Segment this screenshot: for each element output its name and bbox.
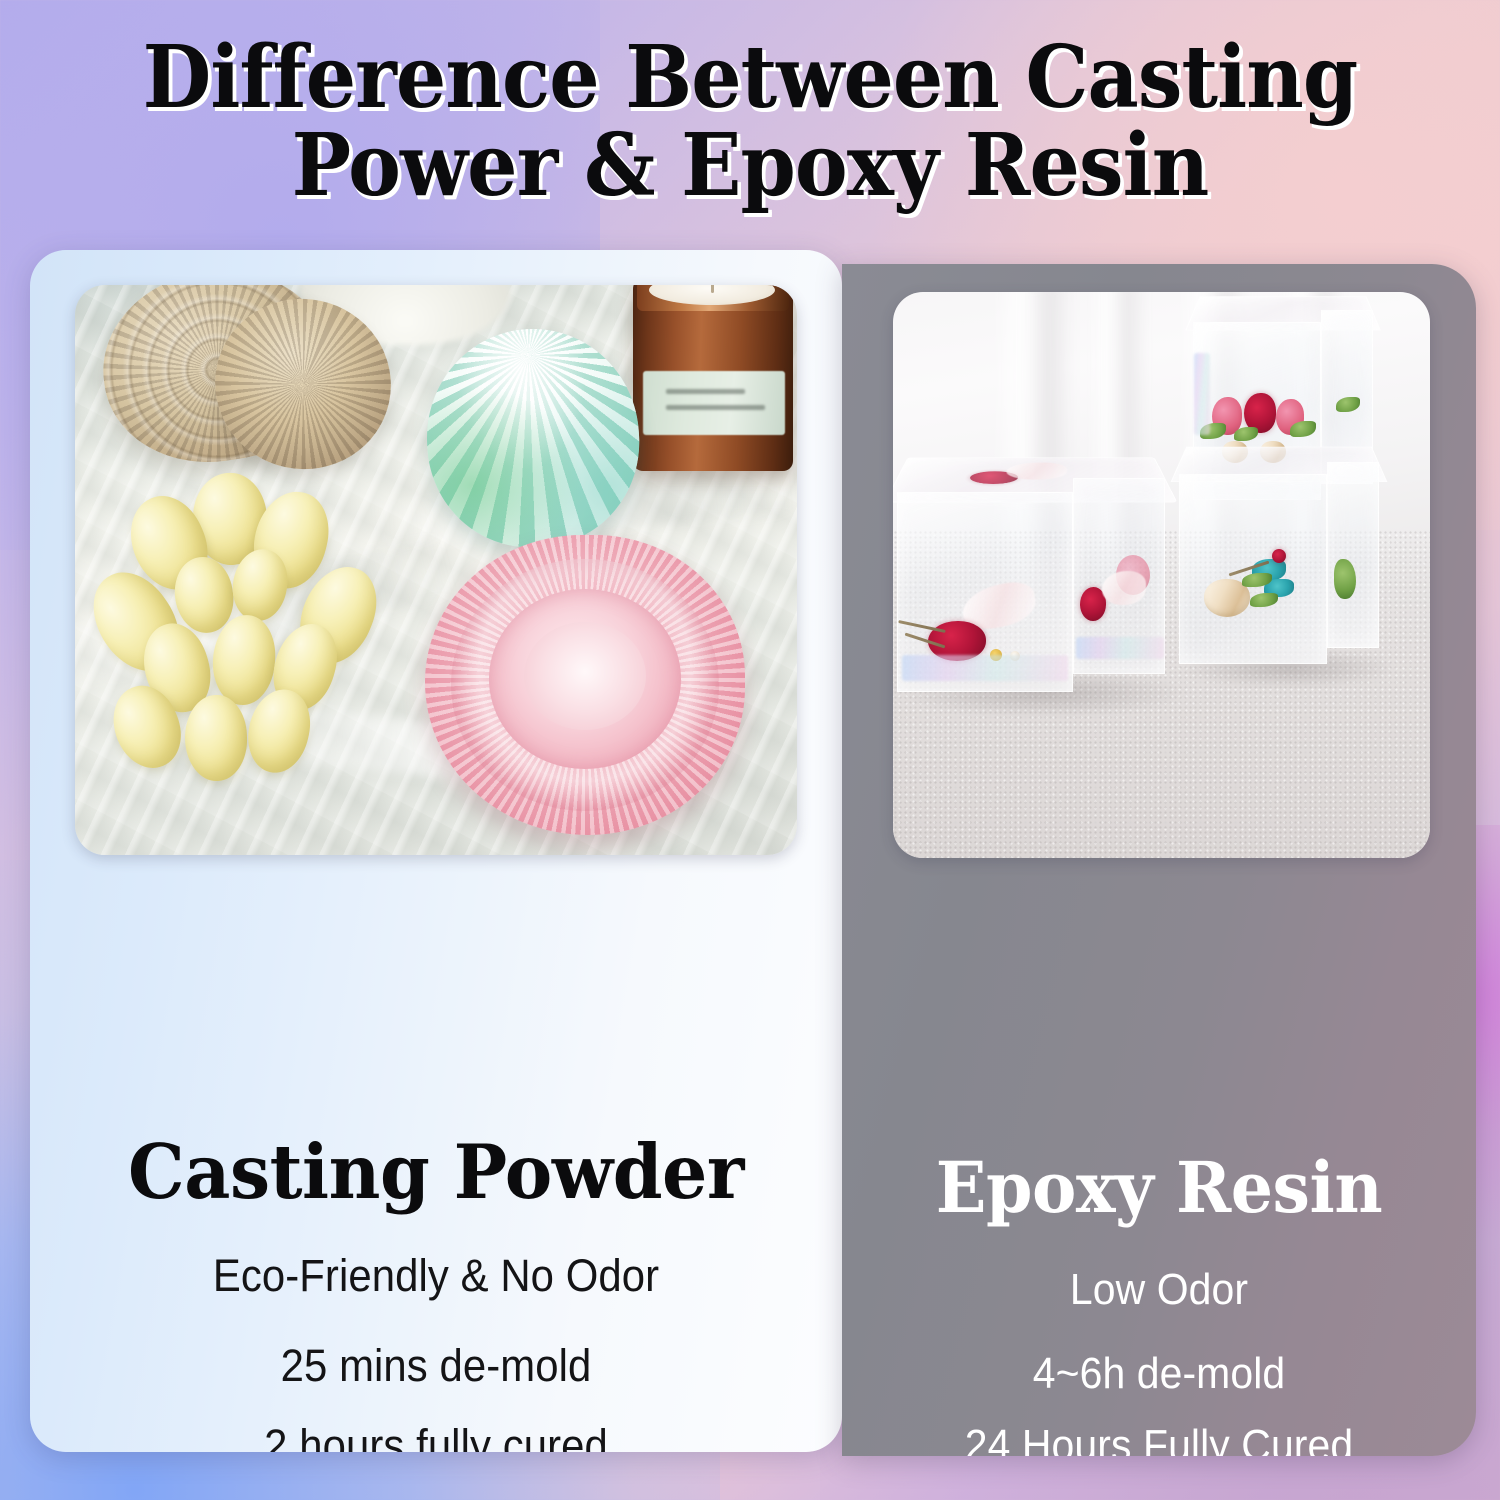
feature-item: 25 mins de-mold [58,1340,813,1392]
page-title-line-1: Difference Between Casting [60,36,1440,120]
inclusion-iridescent [1194,353,1210,435]
inclusion-iridescent [902,655,1068,681]
feature-item: Eco-Friendly & No Odor [58,1250,813,1302]
page-title: Difference Between Casting Power & Epoxy… [0,36,1500,209]
mint-striped-ball [421,324,644,553]
inclusion-leaf [1290,421,1316,437]
pink-peony-flower [425,535,745,835]
photo-casting-powder [75,285,797,855]
inclusion-dried-flower [1272,549,1286,563]
page-title-line-2: Power & Epoxy Resin [60,124,1440,208]
feature-list-epoxy-resin: Low Odor 4~6h de-mold 24 Hours Fully Cur… [842,1265,1476,1456]
cube-front-face [897,492,1073,692]
panel-body-casting-powder: Casting Powder Eco-Friendly & No Odor 25… [30,1128,842,1452]
cube-side-face [1327,462,1379,648]
inclusion-leaf [1250,593,1278,607]
photo-epoxy-resin [893,292,1430,858]
feature-item: 24 Hours Fully Cured [864,1421,1454,1456]
inclusion-iridescent [1076,637,1164,659]
panel-heading-casting-powder: Casting Powder [50,1128,821,1216]
card-epoxy-resin: Epoxy Resin Low Odor 4~6h de-mold 24 Hou… [842,264,1476,1456]
panel-body-epoxy-resin: Epoxy Resin Low Odor 4~6h de-mold 24 Hou… [842,1146,1476,1456]
candle-label-text-line [666,389,746,394]
inclusion-leaf [1334,559,1356,599]
candle-jar-label [643,371,785,435]
card-casting-powder: Casting Powder Eco-Friendly & No Odor 25… [30,250,842,1452]
inclusion-feather [1102,571,1146,605]
candle-label-text-line [666,405,765,410]
yellow-bubble-succulent [97,473,387,793]
comparison-cards: Casting Powder Eco-Friendly & No Odor 25… [0,0,1500,1500]
feature-item: Low Odor [864,1265,1454,1315]
clear-resin-cube-large [897,492,1165,692]
panel-heading-epoxy-resin: Epoxy Resin [858,1146,1460,1229]
inclusion-leaf [1336,397,1360,412]
inclusion-feather [1006,463,1068,480]
candle-jar [633,285,793,471]
woven-knit-ball-secondary-icon [199,285,406,485]
feature-item: 4~6h de-mold [864,1349,1454,1399]
feature-item: 2 hours fully cured [58,1420,813,1452]
cube-front-face [1179,474,1327,664]
candle-wick [711,285,714,293]
feature-list-casting-powder: Eco-Friendly & No Odor 25 mins de-mold 2… [30,1250,842,1452]
cube-side-face [1073,478,1165,674]
inclusion-leaf [1234,427,1258,441]
clear-resin-cube-shell [1179,474,1379,664]
